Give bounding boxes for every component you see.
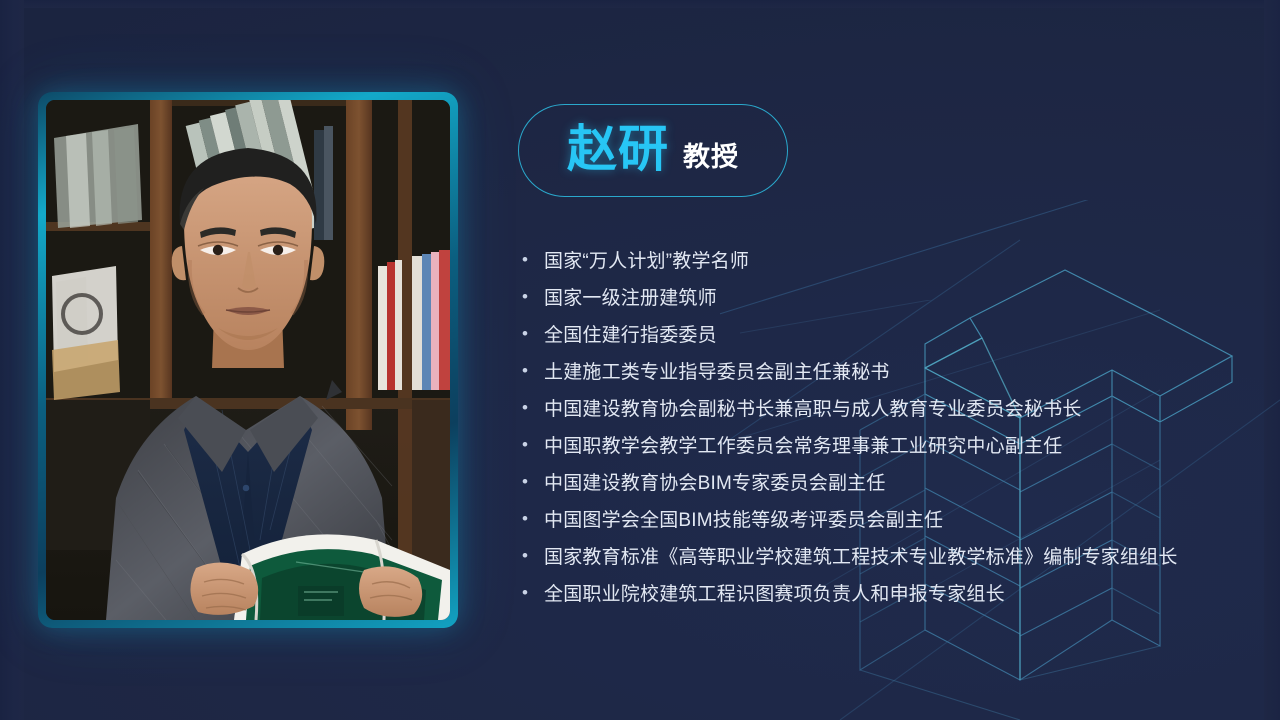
credential-text: 中国建设教育协会副秘书长兼高职与成人教育专业委员会秘书长 <box>544 391 1082 428</box>
portrait-photo-frame <box>38 92 458 628</box>
credential-text: 全国职业院校建筑工程识图赛项负责人和申报专家组长 <box>544 576 1005 613</box>
credential-text: 国家一级注册建筑师 <box>544 280 717 317</box>
bullet-icon: • <box>522 288 544 305</box>
credential-text: 中国图学会全国BIM技能等级考评委员会副主任 <box>544 502 943 539</box>
list-item: • 国家一级注册建筑师 <box>522 280 1242 317</box>
slide-root: 赵研 教授 • 国家“万人计划”教学名师 • 国家一级注册建筑师 • 全国住建行… <box>0 0 1280 720</box>
bullet-icon: • <box>522 362 544 379</box>
portrait-photo-illustration <box>46 100 450 620</box>
list-item: • 国家“万人计划”教学名师 <box>522 243 1242 280</box>
list-item: • 中国图学会全国BIM技能等级考评委员会副主任 <box>522 502 1242 539</box>
list-item: • 全国职业院校建筑工程识图赛项负责人和申报专家组长 <box>522 576 1242 613</box>
list-item: • 中国建设教育协会副秘书长兼高职与成人教育专业委员会秘书长 <box>522 391 1242 428</box>
credential-text: 全国住建行指委委员 <box>544 317 717 354</box>
list-item: • 中国职教学会教学工作委员会常务理事兼工业研究中心副主任 <box>522 428 1242 465</box>
bullet-icon: • <box>522 510 544 527</box>
bullet-icon: • <box>522 547 544 564</box>
credential-text: 国家“万人计划”教学名师 <box>544 243 749 280</box>
list-item: • 国家教育标准《高等职业学校建筑工程技术专业教学标准》编制专家组组长 <box>522 539 1242 576</box>
professor-name: 赵研 <box>567 124 669 174</box>
name-badge: 赵研 教授 <box>518 104 788 197</box>
credential-text: 中国建设教育协会BIM专家委员会副主任 <box>544 465 886 502</box>
list-item: • 土建施工类专业指导委员会副主任兼秘书 <box>522 354 1242 391</box>
list-item: • 全国住建行指委委员 <box>522 317 1242 354</box>
credential-text: 中国职教学会教学工作委员会常务理事兼工业研究中心副主任 <box>544 428 1062 465</box>
bullet-icon: • <box>522 325 544 342</box>
bullet-icon: • <box>522 436 544 453</box>
bullet-icon: • <box>522 473 544 490</box>
portrait-photo <box>46 100 450 620</box>
credential-text: 国家教育标准《高等职业学校建筑工程技术专业教学标准》编制专家组组长 <box>544 539 1178 576</box>
bullet-icon: • <box>522 399 544 416</box>
professor-title: 教授 <box>683 144 739 171</box>
list-item: • 中国建设教育协会BIM专家委员会副主任 <box>522 465 1242 502</box>
bullet-icon: • <box>522 584 544 601</box>
background-left-edge-band <box>0 0 24 720</box>
credentials-list: • 国家“万人计划”教学名师 • 国家一级注册建筑师 • 全国住建行指委委员 •… <box>522 243 1242 613</box>
background-top-edge-band <box>0 0 1280 8</box>
bullet-icon: • <box>522 251 544 268</box>
credential-text: 土建施工类专业指导委员会副主任兼秘书 <box>544 354 890 391</box>
